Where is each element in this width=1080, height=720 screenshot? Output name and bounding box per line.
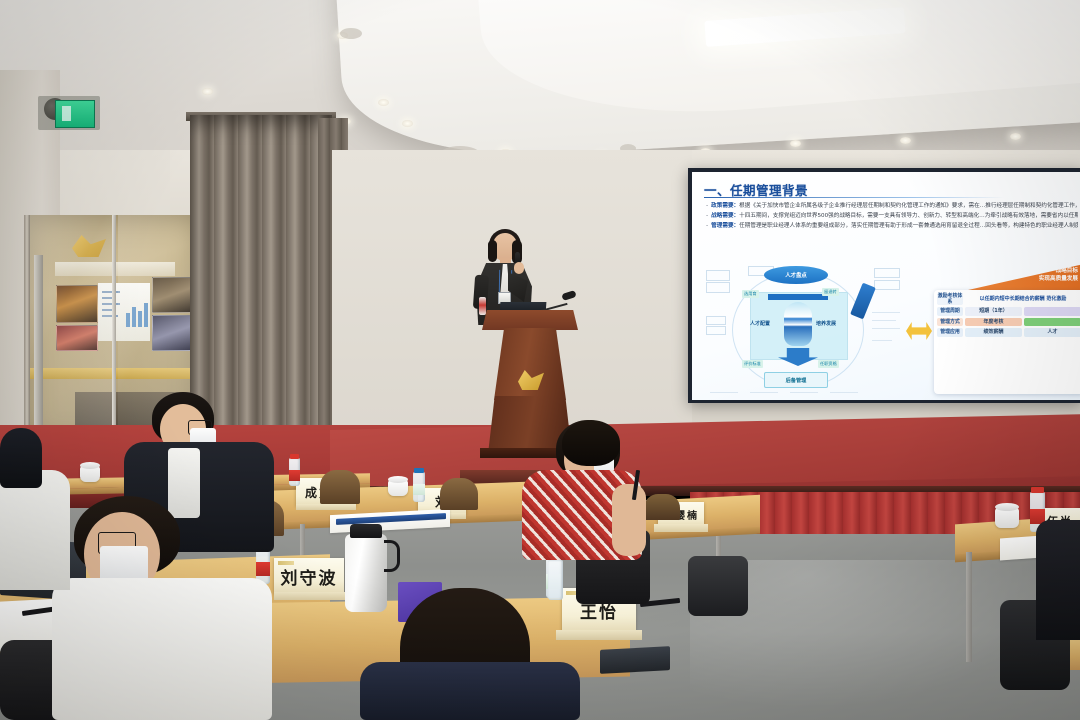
podium-water-bottle xyxy=(479,297,486,315)
table-header-row: 激励考核体系 以任期内短中长期结合的薪酬 范化激励 xyxy=(937,293,1080,305)
ceiling-downlight xyxy=(378,99,389,106)
table-row-value-alt xyxy=(1024,307,1080,316)
cabinet-frame xyxy=(24,215,30,445)
placard-name: 刘守波 xyxy=(281,564,338,589)
conference-room-photo: 一、任期管理背景 - 政策需要：根据《关于加快市管企业所属各级子企业推行经理层任… xyxy=(0,0,1080,720)
placard-fold xyxy=(296,504,356,510)
table-row: 管理方式 年度考核 xyxy=(937,318,1080,327)
placard-fold xyxy=(556,630,642,640)
slide-title-underline xyxy=(704,197,1004,198)
bullet-body: 政策需要：根据《关于加快市管企业所属各级子企业推行经理层任期制和契约化管理工作的… xyxy=(711,202,1078,210)
strategy-banner-line1: 战略目标 xyxy=(932,268,1078,276)
table-row: 管理周期 短期（1年） xyxy=(937,307,1080,316)
table-row-label: 管理方式 xyxy=(937,318,963,327)
thermos-lid xyxy=(350,524,382,538)
table-row-value: 年度考核 xyxy=(965,318,1022,327)
tea-cup-lid xyxy=(995,503,1019,511)
ceiling-downlight xyxy=(790,140,801,147)
ceiling-downlight xyxy=(1010,133,1021,140)
cycle-tag: 选用育 xyxy=(742,290,759,298)
office-chair[interactable] xyxy=(688,556,748,616)
cycle-node-bottom: 后备管理 xyxy=(764,372,828,388)
bottle-label xyxy=(289,470,300,481)
table-header-value: 以任期内短中长期结合的薪酬 范化激励 xyxy=(965,293,1080,305)
bottle-cap xyxy=(1031,487,1044,493)
name-placard: 刘守波 xyxy=(274,558,344,594)
attendee-hair xyxy=(562,420,620,466)
window-curtain xyxy=(190,115,332,445)
presentation-slide: 一、任期管理背景 - 政策需要：根据《关于加快市管企业所属各级子企业推行经理层任… xyxy=(692,172,1080,400)
cabinet-door-handle[interactable] xyxy=(34,255,43,445)
slide-lower-graphics: 人才盘点 人才配置 培养发展 后备管理 选用育 留退转 评价标准 任职资格 战略… xyxy=(692,264,1080,400)
ghost-box xyxy=(874,280,900,290)
attendee-body xyxy=(0,428,42,488)
ghost-line xyxy=(710,392,738,393)
cycle-node-right: 培养发展 xyxy=(816,320,836,327)
bottle-cap xyxy=(290,454,299,459)
bottle-label xyxy=(256,562,270,576)
cycle-tag: 任职资格 xyxy=(818,360,839,368)
attendee-arm xyxy=(612,484,646,556)
chair-back[interactable] xyxy=(440,478,478,510)
ghost-line xyxy=(790,392,818,393)
bullet-body: 战略需要：十四五期间，支撑党组迈向世界500强的战略目标，需要一支具有领导力、创… xyxy=(711,212,1078,220)
bullet-dash-icon: - xyxy=(706,202,708,210)
table-row-label: 管理应用 xyxy=(937,328,963,337)
table-leg xyxy=(966,552,972,662)
laptop-computer[interactable] xyxy=(600,646,670,674)
placard-fold xyxy=(274,592,348,600)
table-row-label: 管理周期 xyxy=(937,307,963,316)
cycle-tag: 留退转 xyxy=(822,288,839,296)
bottle-cap xyxy=(414,468,424,473)
tea-cup-lid xyxy=(388,476,408,483)
ceiling-downlight xyxy=(900,137,911,144)
attendee-body xyxy=(0,470,70,590)
ghost-box xyxy=(706,316,726,325)
attendee-body xyxy=(360,662,580,720)
table-row-value-alt: 人才 xyxy=(1024,328,1080,337)
strategy-banner-line2: 实现高质量发展 xyxy=(932,276,1078,284)
cycle-node-left: 人才配置 xyxy=(750,320,770,327)
table-header-label: 激励考核体系 xyxy=(937,293,963,305)
slide-bullet: - 战略需要：十四五期间，支撑党组迈向世界500强的战略目标，需要一支具有领导力… xyxy=(706,212,1078,220)
ceiling-downlight xyxy=(402,120,413,127)
placard-fold xyxy=(654,524,708,532)
bullet-dash-icon: - xyxy=(706,222,708,230)
ghost-line xyxy=(872,320,896,321)
ghost-box xyxy=(706,326,726,335)
speaker-hand xyxy=(514,262,524,274)
attendee-shirt xyxy=(168,448,200,518)
water-bottle xyxy=(548,560,563,600)
table-row-value: 绩效薪酬 xyxy=(965,328,1022,337)
ghost-line xyxy=(830,392,858,393)
cabinet-mullion xyxy=(112,215,116,445)
placard-emblem-icon xyxy=(278,561,294,565)
podium-top xyxy=(482,310,578,330)
ghost-line xyxy=(750,392,778,393)
ghost-box xyxy=(874,268,900,278)
cycle-tag: 评价标准 xyxy=(742,360,763,368)
slide-bullet: - 政策需要：根据《关于加快市管企业所属各级子企业推行经理层任期制和契约化管理工… xyxy=(706,202,1078,210)
bottle-label xyxy=(413,484,425,495)
ceiling-vent xyxy=(340,28,362,39)
ghost-line xyxy=(872,340,892,341)
slide-bullet: - 管理需要：任期管理是职业经理人体系的重要组成部分，落实任期管理有助于形成一套… xyxy=(706,222,1078,230)
slide-bullet-list: - 政策需要：根据《关于加快市管企业所属各级子企业推行经理层任期制和契约化管理工… xyxy=(706,202,1078,232)
tea-cup xyxy=(995,508,1019,528)
table-row: 管理应用 绩效薪酬 人才 xyxy=(937,328,1080,337)
bullet-body: 管理需要：任期管理是职业经理人体系的重要组成部分，落实任期管理有助于形成一套兼通… xyxy=(711,222,1078,230)
talent-cycle-diagram: 人才盘点 人才配置 培养发展 后备管理 选用育 留退转 评价标准 任职资格 xyxy=(706,264,902,400)
ceiling-downlight xyxy=(202,88,213,95)
table-row-value: 短期（1年） xyxy=(965,307,1022,316)
bullet-dash-icon: - xyxy=(706,212,708,220)
chair-back[interactable] xyxy=(320,470,360,504)
cycle-node-top: 人才盘点 xyxy=(764,266,828,284)
ghost-line xyxy=(872,328,900,329)
table-row-value-alt xyxy=(1024,318,1080,327)
person-head-icon xyxy=(784,302,812,346)
exit-sign-icon xyxy=(55,100,95,128)
thermos-handle[interactable] xyxy=(384,540,400,572)
ghost-box xyxy=(706,270,730,281)
tea-cup-lid xyxy=(80,462,100,469)
coffee-thermos xyxy=(345,534,387,612)
ghost-box xyxy=(706,282,730,293)
incentive-table: 激励考核体系 以任期内短中长期结合的薪酬 范化激励 管理周期 短期（1年） 管理… xyxy=(934,290,1080,394)
speaker-hair-side xyxy=(488,240,497,262)
chair-back[interactable] xyxy=(644,494,680,520)
cycle-bar xyxy=(768,294,828,300)
ghost-line xyxy=(872,312,900,313)
double-arrow-icon xyxy=(906,322,932,340)
attendee-body xyxy=(52,578,272,720)
attendee-body xyxy=(1036,520,1080,640)
